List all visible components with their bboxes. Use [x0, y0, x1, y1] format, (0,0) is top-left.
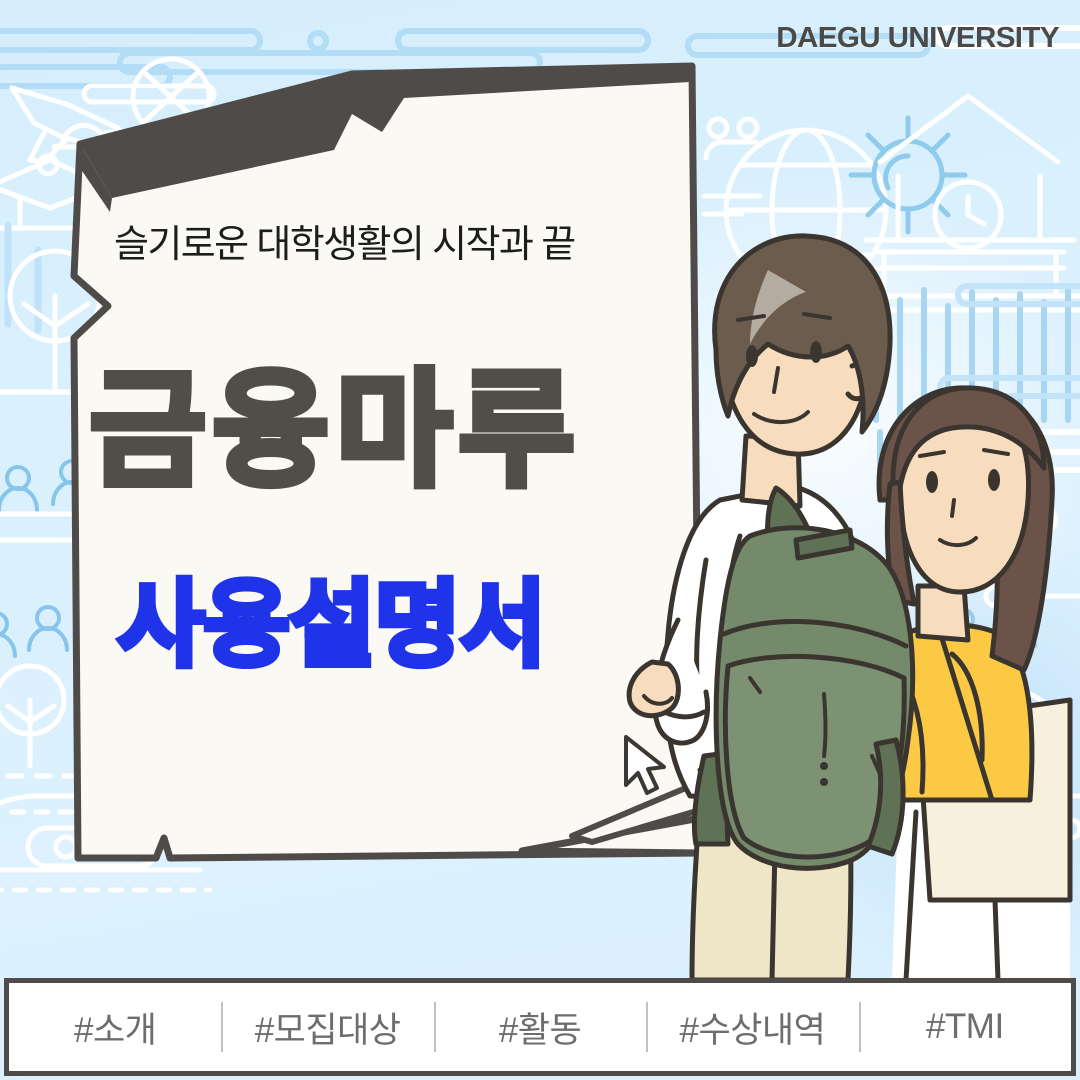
- tag-item-recruit-target[interactable]: #모집대상: [221, 983, 433, 1071]
- brand-title: DAEGU UNIVERSITY: [776, 22, 1059, 55]
- poster-canvas: DAEGU UNIVERSITY 슬기로운 대학생활의 시작과 끝 금융마루 사…: [0, 0, 1080, 1080]
- tag-item-intro[interactable]: #소개: [9, 983, 221, 1071]
- tag-item-awards[interactable]: #수상내역: [646, 983, 858, 1071]
- tag-item-tmi[interactable]: #TMI: [859, 983, 1071, 1071]
- mouse-pointer-icon: [618, 733, 674, 799]
- male-student: [629, 236, 913, 980]
- tag-navigation-bar[interactable]: #소개 #모집대상 #활동 #수상내역 #TMI: [4, 978, 1076, 1076]
- students-illustration: [600, 200, 1080, 980]
- tag-item-activities[interactable]: #활동: [434, 983, 646, 1071]
